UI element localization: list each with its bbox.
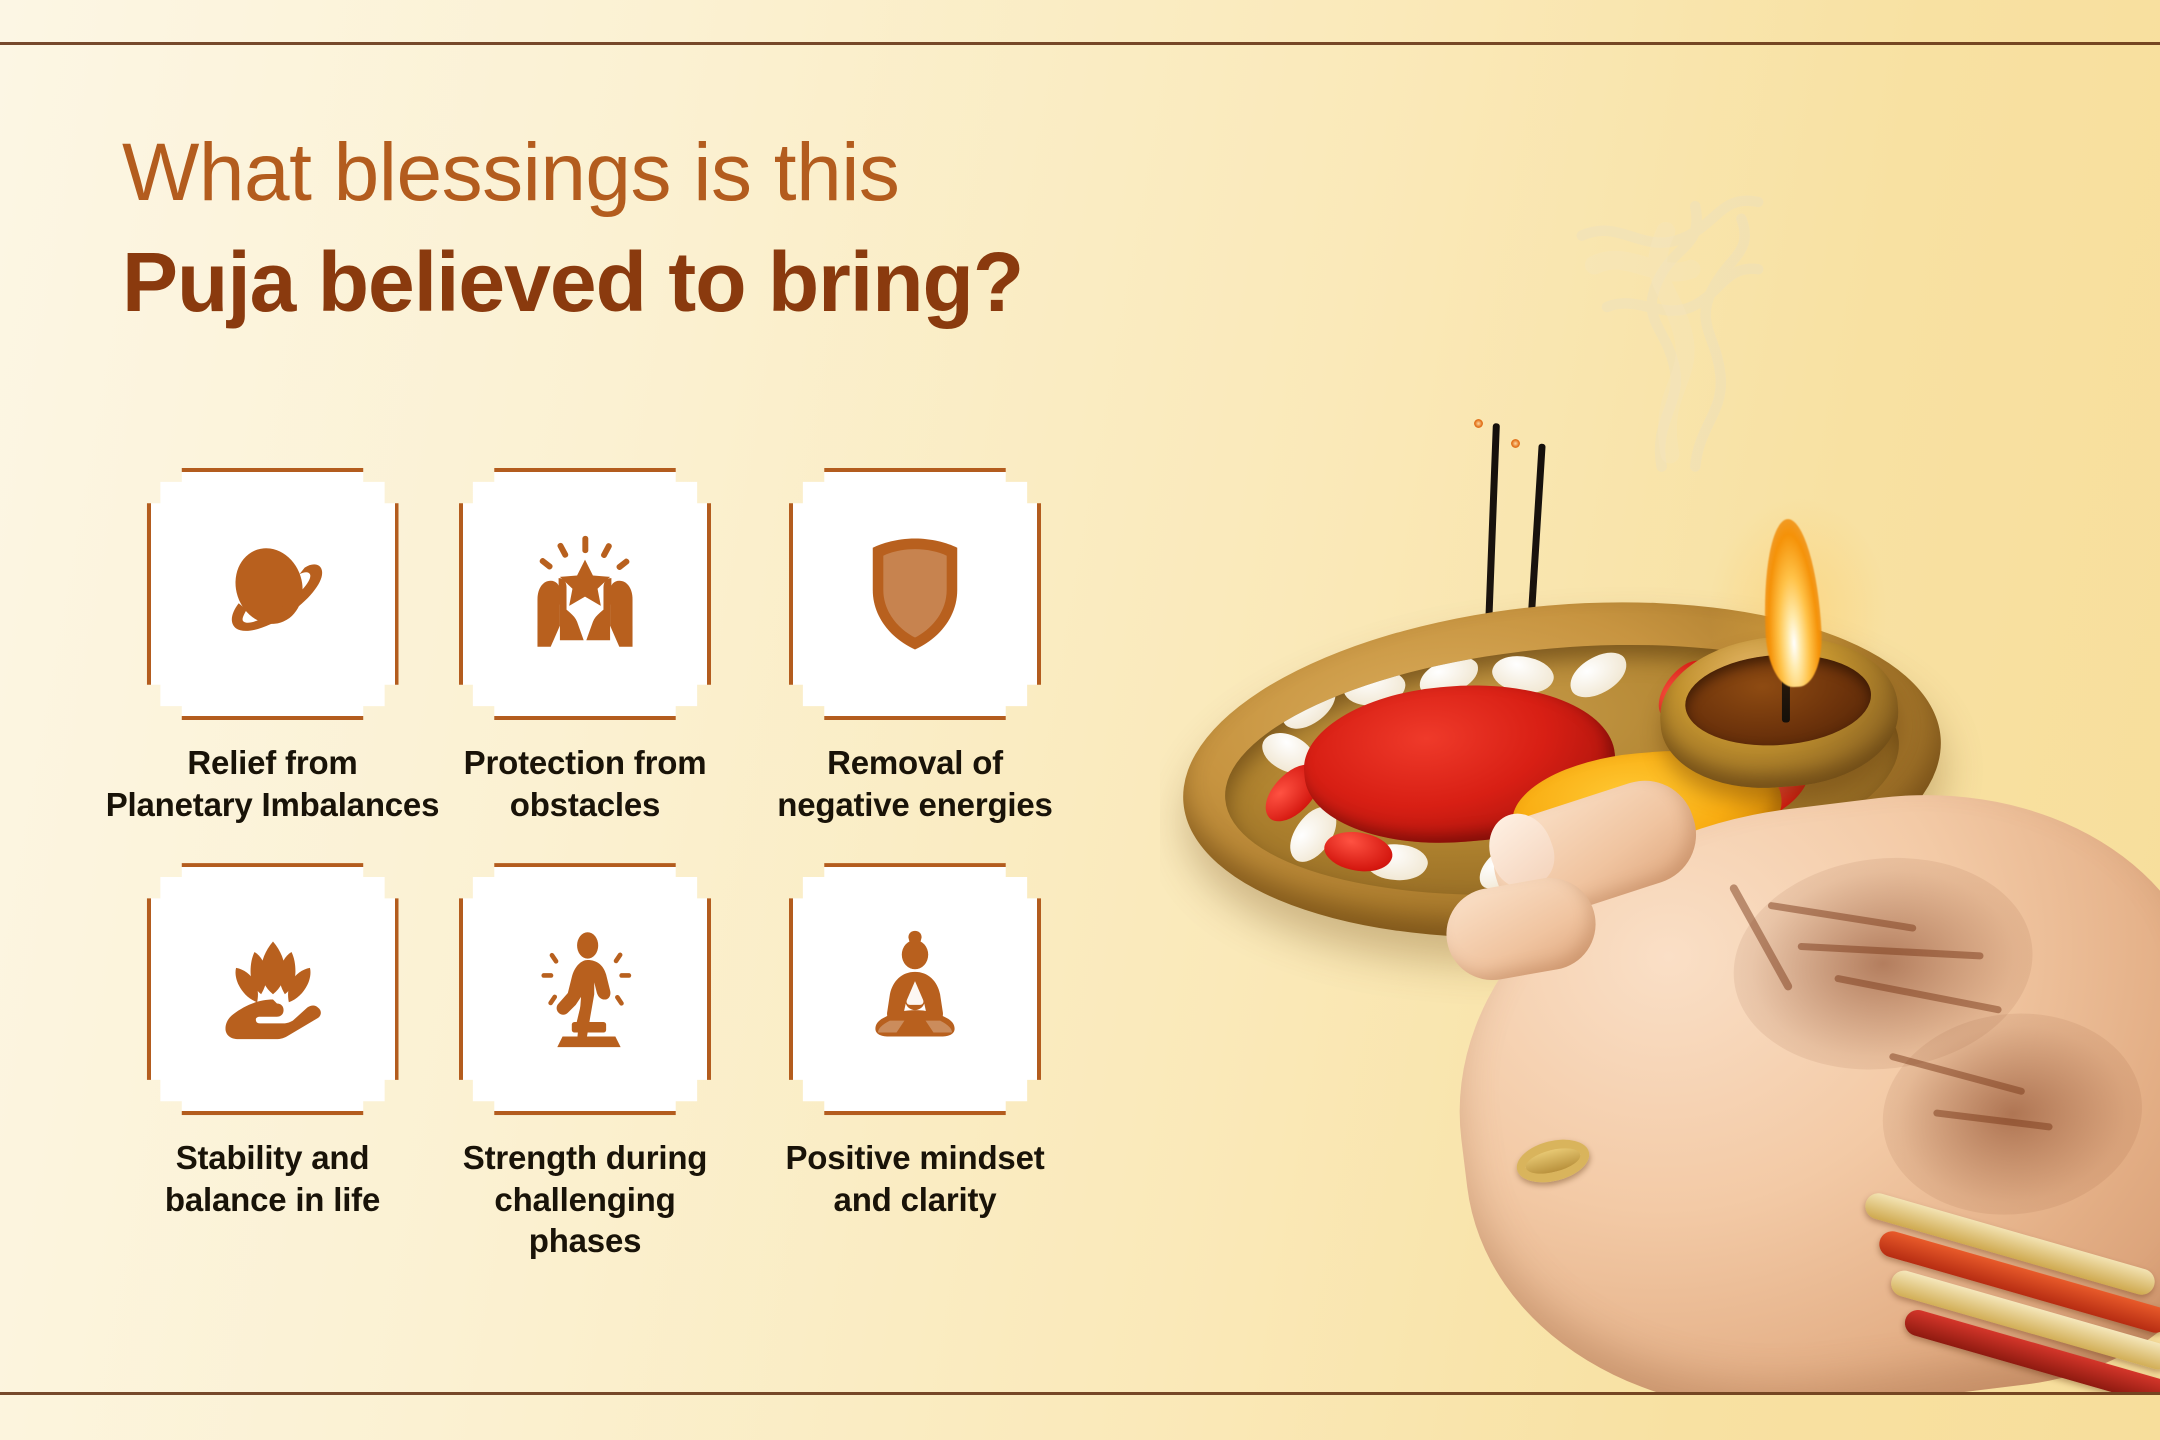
benefit-item-positive-mindset-and-clarity[interactable]: Positive mindset and clarity [725, 863, 1105, 1220]
benefit-label: Removal of negative energies [777, 742, 1052, 825]
bottom-divider-rule [0, 1392, 2160, 1395]
card-icon-slot [789, 468, 1041, 720]
incense-ember [1474, 419, 1483, 428]
benefit-label-line-2: balance in life [165, 1179, 380, 1221]
meditating-person-icon [849, 923, 981, 1055]
card-icon-slot [789, 863, 1041, 1115]
shield-icon [849, 528, 981, 660]
benefit-item-stability-and-balance-in-life[interactable]: Stability and balance in life [100, 863, 445, 1220]
benefit-label-line-2: negative energies [777, 784, 1052, 826]
benefits-row-2: Stability and balance in life [100, 863, 1210, 1262]
benefit-card[interactable] [789, 468, 1041, 720]
hands-holding-star-icon [519, 528, 651, 660]
benefit-label: Relief from Planetary Imbalances [106, 742, 440, 825]
card-icon-slot [459, 468, 711, 720]
white-petal [1563, 647, 1633, 703]
benefit-card[interactable] [147, 863, 399, 1115]
benefit-label-line-2: challenging phases [445, 1179, 725, 1262]
card-icon-slot [147, 468, 399, 720]
lotus-in-hand-icon [207, 923, 339, 1055]
puja-thali-photograph [1160, 45, 2160, 1392]
benefit-item-strength-during-challenging-phases[interactable]: Strength during challenging phases [445, 863, 725, 1262]
strong-person-on-pedestal-icon [519, 923, 651, 1055]
benefit-label: Positive mindset and clarity [785, 1137, 1044, 1220]
benefit-label-line-1: Positive mindset [785, 1139, 1044, 1176]
benefit-label-line-1: Strength during [463, 1139, 707, 1176]
benefit-card[interactable] [459, 468, 711, 720]
benefit-label-line-2: Planetary Imbalances [106, 784, 440, 826]
saturn-planet-icon [207, 528, 339, 660]
benefit-label-line-1: Removal of [827, 744, 1003, 781]
benefit-card[interactable] [147, 468, 399, 720]
benefit-label-line-1: Protection from [464, 744, 707, 781]
benefit-label: Strength during challenging phases [445, 1137, 725, 1262]
card-icon-slot [147, 863, 399, 1115]
benefit-label-line-2: obstacles [464, 784, 707, 826]
card-icon-slot [459, 863, 711, 1115]
benefit-card[interactable] [789, 863, 1041, 1115]
benefit-label: Protection from obstacles [464, 742, 707, 825]
benefit-label-line-1: Relief from [187, 744, 357, 781]
incense-smoke [1460, 55, 1880, 475]
benefit-item-removal-of-negative-energies[interactable]: Removal of negative energies [725, 468, 1105, 825]
incense-ember [1511, 439, 1520, 448]
benefit-item-protection-from-obstacles[interactable]: Protection from obstacles [445, 468, 725, 825]
infographic-canvas: What blessings is this Puja believed to … [0, 0, 2160, 1440]
benefit-card[interactable] [459, 863, 711, 1115]
benefit-label: Stability and balance in life [165, 1137, 380, 1220]
benefit-label-line-1: Stability and [176, 1139, 370, 1176]
benefit-item-relief-from-planetary-imbalances[interactable]: Relief from Planetary Imbalances [100, 468, 445, 825]
benefit-label-line-2: and clarity [785, 1179, 1044, 1221]
benefits-grid: Relief from Planetary Imbalances [100, 468, 1210, 1262]
benefits-row-1: Relief from Planetary Imbalances [100, 468, 1210, 825]
